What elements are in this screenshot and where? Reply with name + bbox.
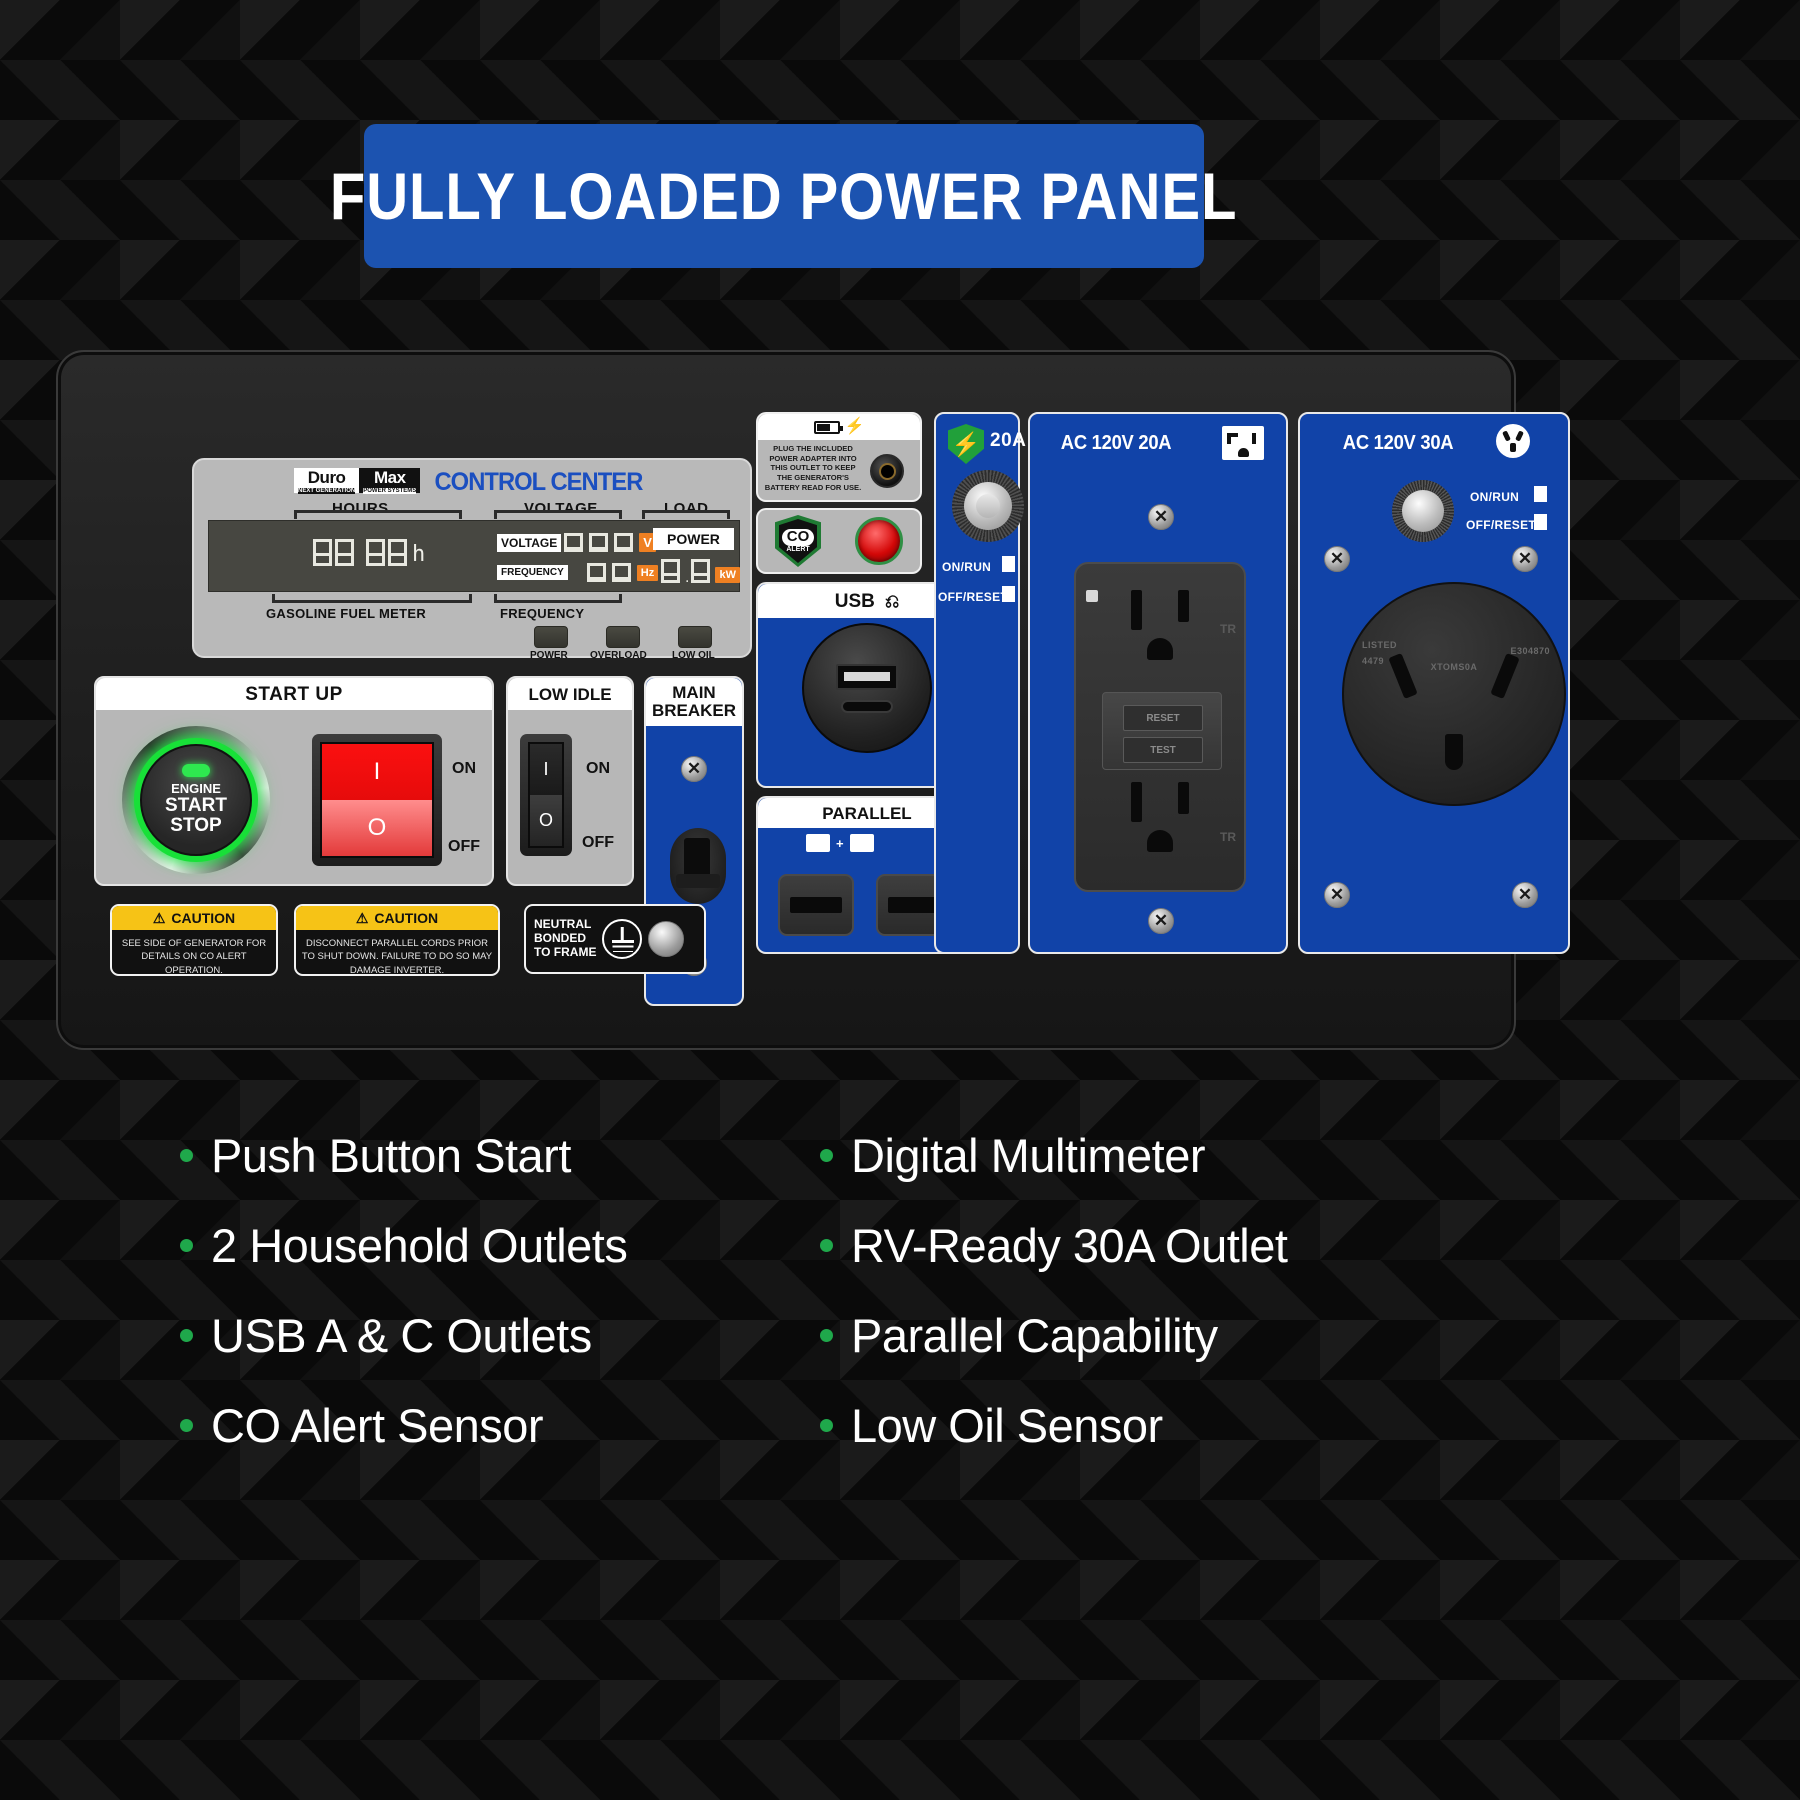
start-button-line1: ENGINE: [171, 782, 221, 796]
rv-slot-ground: [1445, 734, 1463, 770]
list-item: Low Oil Sensor: [820, 1380, 1460, 1470]
plug-in-icon: [1002, 556, 1015, 572]
co-alert-badge-line1: CO: [782, 529, 815, 546]
low-idle-module: LOW IDLE I O ON OFF: [506, 676, 634, 886]
list-item: RV-Ready 30A Outlet: [820, 1200, 1460, 1290]
list-item: Parallel Capability: [820, 1290, 1460, 1380]
usb-port-cluster[interactable]: [802, 623, 932, 753]
lcd-display: h VOLTAGE V FREQUENCY Hz POWER: [208, 520, 740, 592]
bullet-icon: [820, 1329, 833, 1342]
main-breaker-toggle[interactable]: [670, 828, 726, 904]
list-item: 2 Household Outlets: [180, 1200, 820, 1290]
main-breaker-header: MAIN BREAKER: [646, 678, 742, 726]
battery-charge-header: ⚡: [758, 414, 920, 440]
co-alert-lamp: [855, 517, 903, 565]
dc-charge-jack[interactable]: [870, 454, 904, 488]
logo-duro-sub: NEXT GENERATION: [298, 488, 355, 494]
battery-icon: [814, 421, 840, 434]
start-button-line3: STOP: [170, 816, 221, 836]
co-alert-module: CO ALERT: [756, 508, 922, 574]
list-item: CO Alert Sensor: [180, 1380, 820, 1470]
screw-icon: ✕: [1512, 546, 1538, 572]
page-title: FULLY LOADED POWER PANEL: [330, 158, 1237, 234]
bracket-fuel: [272, 594, 472, 603]
neutral-line1: NEUTRAL: [534, 918, 596, 932]
warning-triangle-icon: ⚠: [356, 910, 369, 927]
low-idle-on-symbol: I: [530, 744, 562, 795]
logo-max-sub: POWER SYSTEMS: [363, 488, 416, 494]
screw-icon: ✕: [1324, 546, 1350, 572]
bullet-icon: [180, 1239, 193, 1252]
low-idle-switch[interactable]: I O: [520, 734, 572, 856]
rv-slot-right: [1490, 653, 1519, 699]
feature-label: RV-Ready 30A Outlet: [851, 1218, 1287, 1273]
co-alert-badge-line2: ALERT: [786, 546, 809, 553]
list-item: Digital Multimeter: [820, 1110, 1460, 1200]
feature-label: Low Oil Sensor: [851, 1398, 1163, 1453]
gfci-tr-mark-top: TR: [1220, 622, 1236, 636]
feature-column-right: Digital Multimeter RV-Ready 30A Outlet P…: [820, 1110, 1460, 1470]
ground-symbol-icon: [602, 919, 642, 959]
breaker-20a-on-label: ON/RUN: [942, 560, 991, 574]
start-button-line2: START: [165, 796, 227, 816]
shield-bolt-icon: ⚡: [948, 424, 984, 464]
screw-icon: ✕: [1512, 882, 1538, 908]
screw-icon: ✕: [681, 756, 707, 782]
control-center-module: DuroNEXT GENERATION MaxPOWER SYSTEMS CON…: [192, 458, 752, 658]
bracket-voltage: [494, 510, 622, 519]
indicator-lamp-power: [534, 626, 568, 648]
duromax-logo: DuroNEXT GENERATION MaxPOWER SYSTEMS: [294, 468, 420, 493]
breaker-20a-off-label: OFF/RESET: [938, 590, 1008, 604]
low-idle-off-symbol: O: [530, 795, 562, 846]
bullet-icon: [180, 1329, 193, 1342]
feature-label: CO Alert Sensor: [211, 1398, 543, 1453]
parallel-socket-left[interactable]: [778, 874, 854, 936]
lcd-frequency-row: FREQUENCY Hz: [497, 563, 658, 582]
rocker-on-symbol: I: [322, 744, 432, 800]
plug-out-icon: [1534, 514, 1547, 530]
caution-label-co: ⚠CAUTION SEE SIDE OF GENERATOR FOR DETAI…: [110, 904, 278, 976]
feature-column-left: Push Button Start 2 Household Outlets US…: [180, 1110, 820, 1470]
ac-120v-20a-header: AC 120V 20A: [1061, 432, 1172, 455]
logo-duro: Duro: [308, 468, 346, 488]
caution-header-2: CAUTION: [374, 910, 438, 926]
indicator-lamp-overload: [606, 626, 640, 648]
low-idle-off-label: OFF: [582, 834, 614, 852]
neutral-line3: TO FRAME: [534, 946, 596, 960]
co-alert-badge-icon: CO ALERT: [775, 515, 821, 567]
rv-mark-efile: E304870: [1510, 646, 1550, 656]
bullet-icon: [820, 1239, 833, 1252]
breaker-30a-on-label: ON/RUN: [1470, 490, 1519, 504]
lcd-power-label-wrap: POWER: [653, 531, 734, 549]
bullet-icon: [820, 1419, 833, 1432]
rv-30a-outlet[interactable]: LISTED 4479 E304870 XTOMS0A: [1342, 582, 1566, 806]
control-center-title: CONTROL CENTER: [434, 468, 642, 497]
breaker-20a-knob[interactable]: [952, 470, 1024, 542]
screw-icon: ✕: [1324, 882, 1350, 908]
usb-trident-icon: ⎌: [885, 592, 899, 610]
gfci-tr-mark-bottom: TR: [1220, 830, 1236, 844]
lcd-frequency-unit: Hz: [637, 565, 658, 581]
rv-slot-left: [1388, 653, 1417, 699]
nema-5-20r-outlet-icon: [1222, 426, 1264, 460]
indicator-lamp-low-oil: [678, 626, 712, 648]
indicator-label-low-oil: LOW OIL: [672, 650, 715, 661]
warning-triangle-icon: ⚠: [153, 910, 166, 927]
neutral-bonded-label: NEUTRAL BONDED TO FRAME: [524, 904, 706, 974]
bullet-icon: [820, 1149, 833, 1162]
bracket-hours: [294, 510, 462, 519]
list-item: USB A & C Outlets: [180, 1290, 820, 1380]
generator-power-panel: DuroNEXT GENERATION MaxPOWER SYSTEMS CON…: [56, 350, 1516, 1050]
indicator-label-power: POWER: [530, 650, 568, 661]
start-switch-off-label: OFF: [448, 838, 480, 856]
caution-header-1: CAUTION: [171, 910, 235, 926]
screw-icon: ✕: [1148, 908, 1174, 934]
lcd-power-unit: kW: [715, 567, 740, 583]
footer-fuel-meter: GASOLINE FUEL METER: [266, 606, 426, 621]
gfci-reset-button[interactable]: RESET: [1123, 705, 1203, 731]
caution-label-parallel: ⚠CAUTION DISCONNECT PARALLEL CORDS PRIOR…: [294, 904, 500, 976]
footer-frequency: FREQUENCY: [500, 606, 584, 621]
low-idle-header: LOW IDLE: [508, 678, 632, 710]
ac-120v-30a-module: AC 120V 30A ON/RUN OFF/RESET ✕ ✕ LISTED …: [1298, 412, 1570, 954]
gfci-test-button[interactable]: TEST: [1123, 737, 1203, 763]
lcd-voltage-row: VOLTAGE V: [497, 533, 656, 552]
bullet-icon: [180, 1419, 193, 1432]
usb-header-label: USB: [835, 592, 875, 611]
gfci-duplex-outlet[interactable]: RESET TEST TR TR: [1074, 562, 1246, 892]
ac-120v-20a-module: AC 120V 20A ✕ RESET TEST: [1028, 412, 1288, 954]
low-idle-on-label: ON: [586, 760, 610, 778]
lightning-bolt-icon: ⚡: [845, 419, 865, 435]
start-button-led-icon: [182, 764, 210, 777]
breaker-20a-label: 20A: [990, 430, 1026, 452]
plug-out-icon: [1002, 586, 1015, 602]
caution-body-2: DISCONNECT PARALLEL CORDS PRIOR TO SHUT …: [296, 930, 498, 976]
feature-label: Digital Multimeter: [851, 1128, 1205, 1183]
engine-start-stop-button[interactable]: ENGINE START STOP: [122, 726, 270, 874]
breaker-20a-module: ⚡ 20A ON/RUN OFF/RESET: [934, 412, 1020, 954]
rv-mark-model: XTOMS0A: [1431, 662, 1478, 672]
start-switch-on-label: ON: [452, 760, 476, 778]
rv-mark-listed: LISTED: [1362, 640, 1397, 650]
list-item: Push Button Start: [180, 1110, 820, 1200]
ground-bolt[interactable]: [648, 921, 684, 957]
plug-in-icon: [1534, 486, 1547, 502]
battery-charge-outlet-module: ⚡ PLUG THE INCLUDED POWER ADAPTER INTO T…: [756, 412, 922, 502]
tt-30r-outlet-icon: [1496, 424, 1530, 458]
breaker-30a-off-label: OFF/RESET: [1466, 518, 1536, 532]
screw-icon: ✕: [1148, 504, 1174, 530]
title-banner: FULLY LOADED POWER PANEL: [364, 124, 1204, 268]
feature-label: Parallel Capability: [851, 1308, 1218, 1363]
lcd-frequency-label: FREQUENCY: [497, 565, 568, 580]
lcd-hours-group: h: [313, 539, 425, 566]
bracket-frequency: [494, 594, 622, 603]
lcd-hours-unit: h: [412, 544, 425, 566]
indicator-label-overload: OVERLOAD: [590, 650, 647, 661]
feature-label: 2 Household Outlets: [211, 1218, 627, 1273]
lcd-voltage-label: VOLTAGE: [497, 534, 561, 552]
caution-body-1: SEE SIDE OF GENERATOR FOR DETAILS ON CO …: [112, 930, 276, 976]
feature-label: Push Button Start: [211, 1128, 571, 1183]
usb-a-port[interactable]: [836, 664, 898, 690]
logo-max: Max: [374, 468, 406, 488]
rocker-off-symbol: O: [322, 800, 432, 856]
battery-outlet-instructions: PLUG THE INCLUDED POWER ADAPTER INTO THI…: [764, 444, 862, 493]
start-rocker-switch[interactable]: I O: [312, 734, 442, 866]
ac-120v-30a-header: AC 120V 30A: [1343, 432, 1454, 455]
usb-c-port[interactable]: [841, 700, 893, 713]
main-breaker-header-line2: BREAKER: [652, 702, 736, 720]
breaker-30a-knob[interactable]: [1392, 480, 1454, 542]
lcd-power-value-wrap: . kW: [661, 559, 740, 583]
main-breaker-header-line1: MAIN: [672, 684, 715, 702]
start-up-module: START UP ENGINE START STOP I O ON OFF: [94, 676, 494, 886]
bracket-load: [642, 510, 730, 519]
lcd-power-label: POWER: [653, 528, 734, 550]
rv-mark-number: 4479: [1362, 656, 1384, 666]
neutral-line2: BONDED: [534, 932, 596, 946]
start-up-header: START UP: [96, 678, 492, 710]
feature-label: USB A & C Outlets: [211, 1308, 592, 1363]
parallel-diagram-icon: +: [806, 834, 874, 852]
bullet-icon: [180, 1149, 193, 1162]
